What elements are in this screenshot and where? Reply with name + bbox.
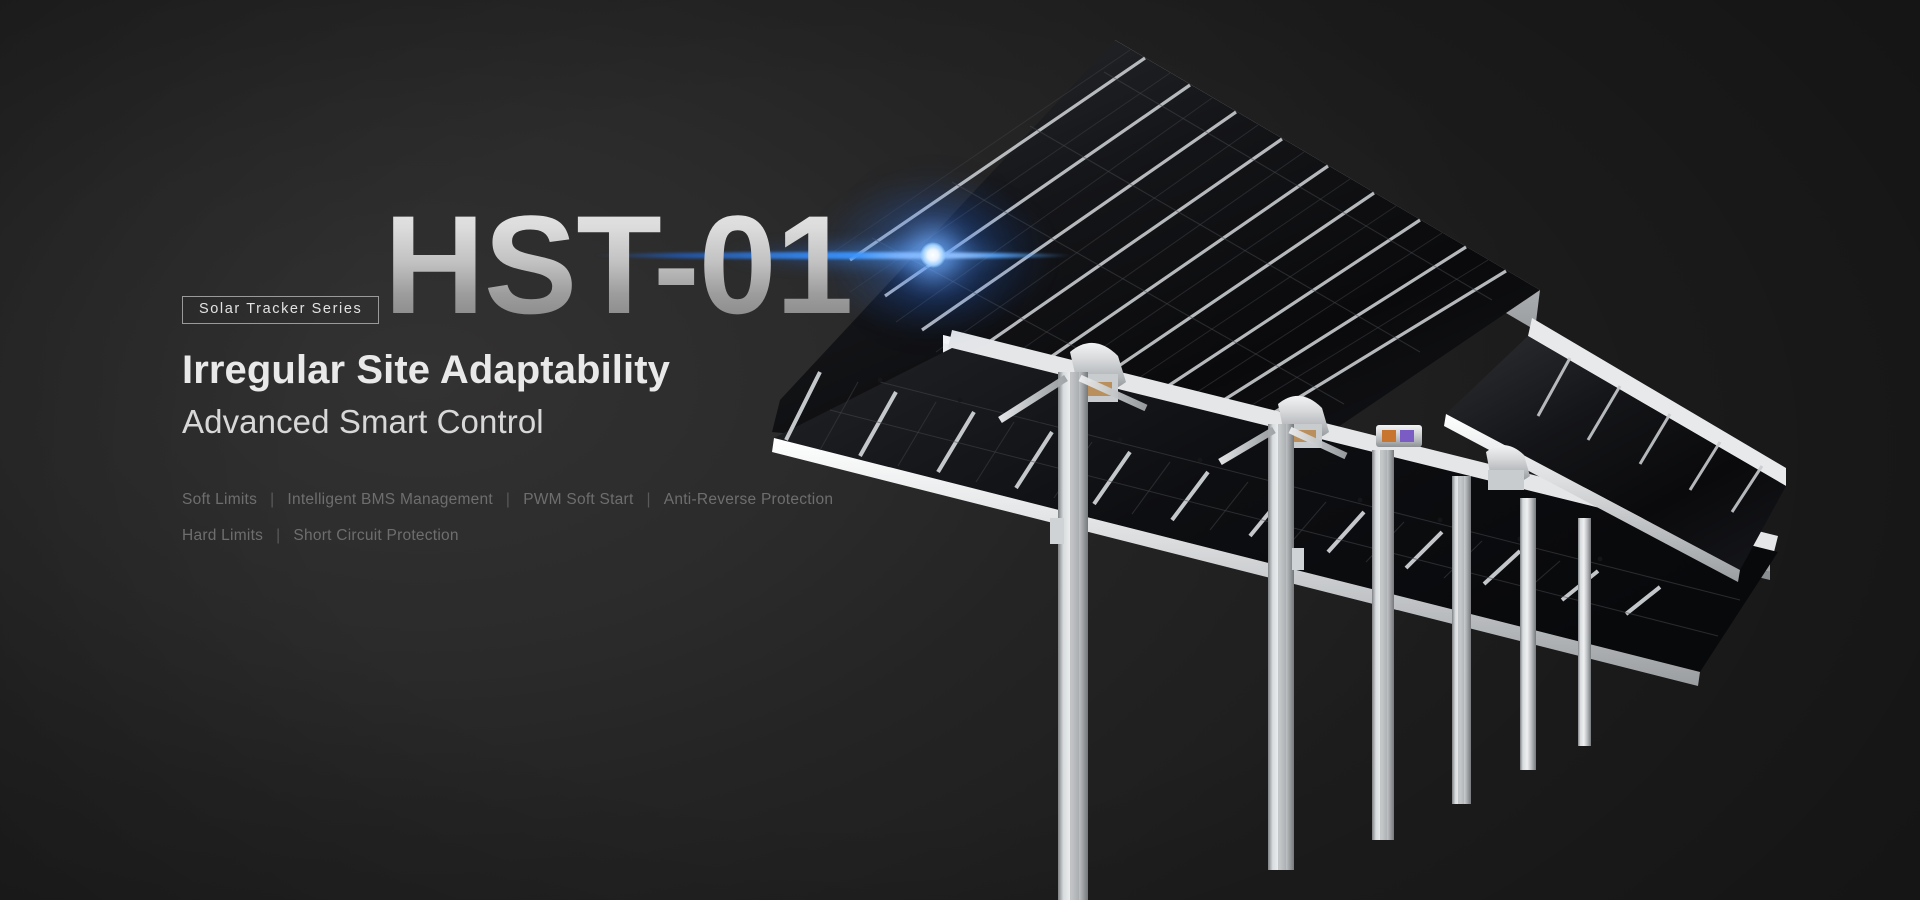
feature-separator: | [493,492,523,508]
feature-item: Intelligent BMS Management [287,492,493,508]
support-post-4 [1452,476,1471,804]
hero-banner: Solar Tracker Series HST-01 Irregular Si… [0,0,1920,900]
feature-row: Hard Limits|Short Circuit Protection [182,528,1002,544]
product-title: HST-01 [384,198,853,331]
support-post-3 [1372,450,1394,840]
feature-item: PWM Soft Start [523,492,633,508]
feature-list: Soft Limits|Intelligent BMS Management|P… [182,492,1002,543]
hero-copy: Solar Tracker Series HST-01 Irregular Si… [182,170,1002,563]
feature-separator: | [634,492,664,508]
support-post-6 [1578,518,1591,746]
feature-item: Short Circuit Protection [293,528,458,544]
support-post-5 [1520,498,1536,770]
feature-item: Soft Limits [182,492,257,508]
hero-subtitle-secondary: Advanced Smart Control [182,404,1002,440]
feature-item: Hard Limits [182,528,263,544]
feature-separator: | [263,528,293,544]
hero-subtitle-primary: Irregular Site Adaptability [182,349,1002,392]
drive-actuator [1376,425,1422,447]
series-badge: Solar Tracker Series [182,296,379,324]
feature-row: Soft Limits|Intelligent BMS Management|P… [182,492,1002,508]
feature-item: Anti-Reverse Protection [664,492,833,508]
feature-separator: | [257,492,287,508]
